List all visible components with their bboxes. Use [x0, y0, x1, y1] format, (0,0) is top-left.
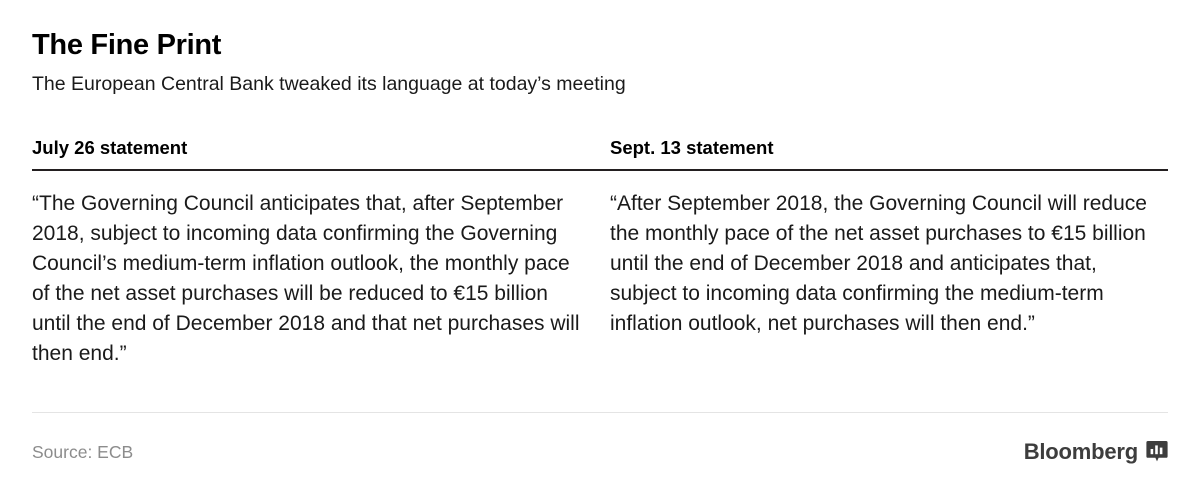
bloomberg-logo: Bloomberg	[1024, 439, 1168, 465]
table-header-row: July 26 statement Sept. 13 statement	[32, 136, 1168, 169]
bloomberg-wordmark: Bloomberg	[1024, 439, 1138, 465]
infographic-canvas: The Fine Print The European Central Bank…	[0, 0, 1200, 498]
header-block: The Fine Print The European Central Bank…	[32, 28, 1168, 97]
footer-divider	[32, 412, 1168, 413]
footer-block: Source: ECB Bloomberg	[32, 432, 1168, 472]
column-header-july-statement: July 26 statement	[32, 136, 610, 169]
column-header-sept-statement: Sept. 13 statement	[610, 136, 1168, 169]
column-body-sept-statement: “After September 2018, the Governing Cou…	[610, 189, 1168, 369]
bloomberg-bar-chart-icon	[1146, 440, 1168, 464]
page-title: The Fine Print	[32, 28, 1168, 62]
source-label: Source: ECB	[32, 440, 133, 464]
statements-comparison-table: July 26 statement Sept. 13 statement “Th…	[32, 136, 1168, 369]
page-subtitle: The European Central Bank tweaked its la…	[32, 71, 1168, 97]
table-body-row: “The Governing Council anticipates that,…	[32, 171, 1168, 369]
column-body-july-statement: “The Governing Council anticipates that,…	[32, 189, 610, 369]
